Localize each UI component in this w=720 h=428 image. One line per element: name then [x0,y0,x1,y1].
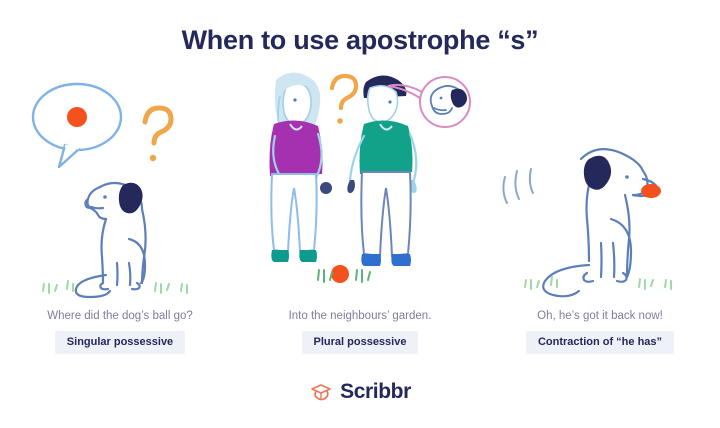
logo-text: Scribbr [340,380,411,404]
page-title: When to use apostrophe “s” [182,26,539,56]
dog-ear [584,155,611,189]
dog-ear [119,182,143,213]
scene-two-people [240,62,480,302]
badge-contraction: Contraction of “he has” [526,331,674,354]
caption-column-1: Where did the dog’s ball go? Singular po… [0,310,240,354]
dog-eye [625,175,629,179]
scene-dog-asking [0,62,240,302]
orange-ball-icon [67,107,87,127]
dog-holding-ball-illustration [485,67,715,302]
captions-row: Where did the dog’s ball go? Singular po… [0,310,720,354]
question-mark-icon [145,108,171,161]
caption-text-2: Into the neighbours’ garden. [289,310,432,322]
badge-singular-possessive: Singular possessive [55,331,185,354]
scribbr-logo[interactable]: Scribbr [309,380,411,404]
badge-plural-possessive: Plural possessive [302,331,419,354]
graduation-cap-icon [309,380,333,404]
illustration-row [0,62,720,302]
dog-eye [103,195,107,199]
man-figure [347,75,470,266]
wagging-tail-lines [503,169,533,203]
pink-speech-bubble [388,77,470,127]
caption-column-2: Into the neighbours’ garden. Plural poss… [240,310,480,354]
scene-dog-with-ball [480,62,720,302]
dog-with-speech-bubble-illustration [5,67,235,302]
orange-ball-icon [331,265,349,283]
caption-text-1: Where did the dog’s ball go? [47,310,193,322]
infographic-page: When to use apostrophe “s” [0,0,720,428]
grass-tufts [43,281,187,293]
orange-ball-icon [641,184,661,198]
two-people-illustration [240,62,480,302]
woman-figure [270,72,357,262]
caption-text-3: Oh, he’s got it back now! [537,310,663,322]
caption-column-3: Oh, he’s got it back now! Contraction of… [480,310,720,354]
question-mark-icon [332,76,356,124]
